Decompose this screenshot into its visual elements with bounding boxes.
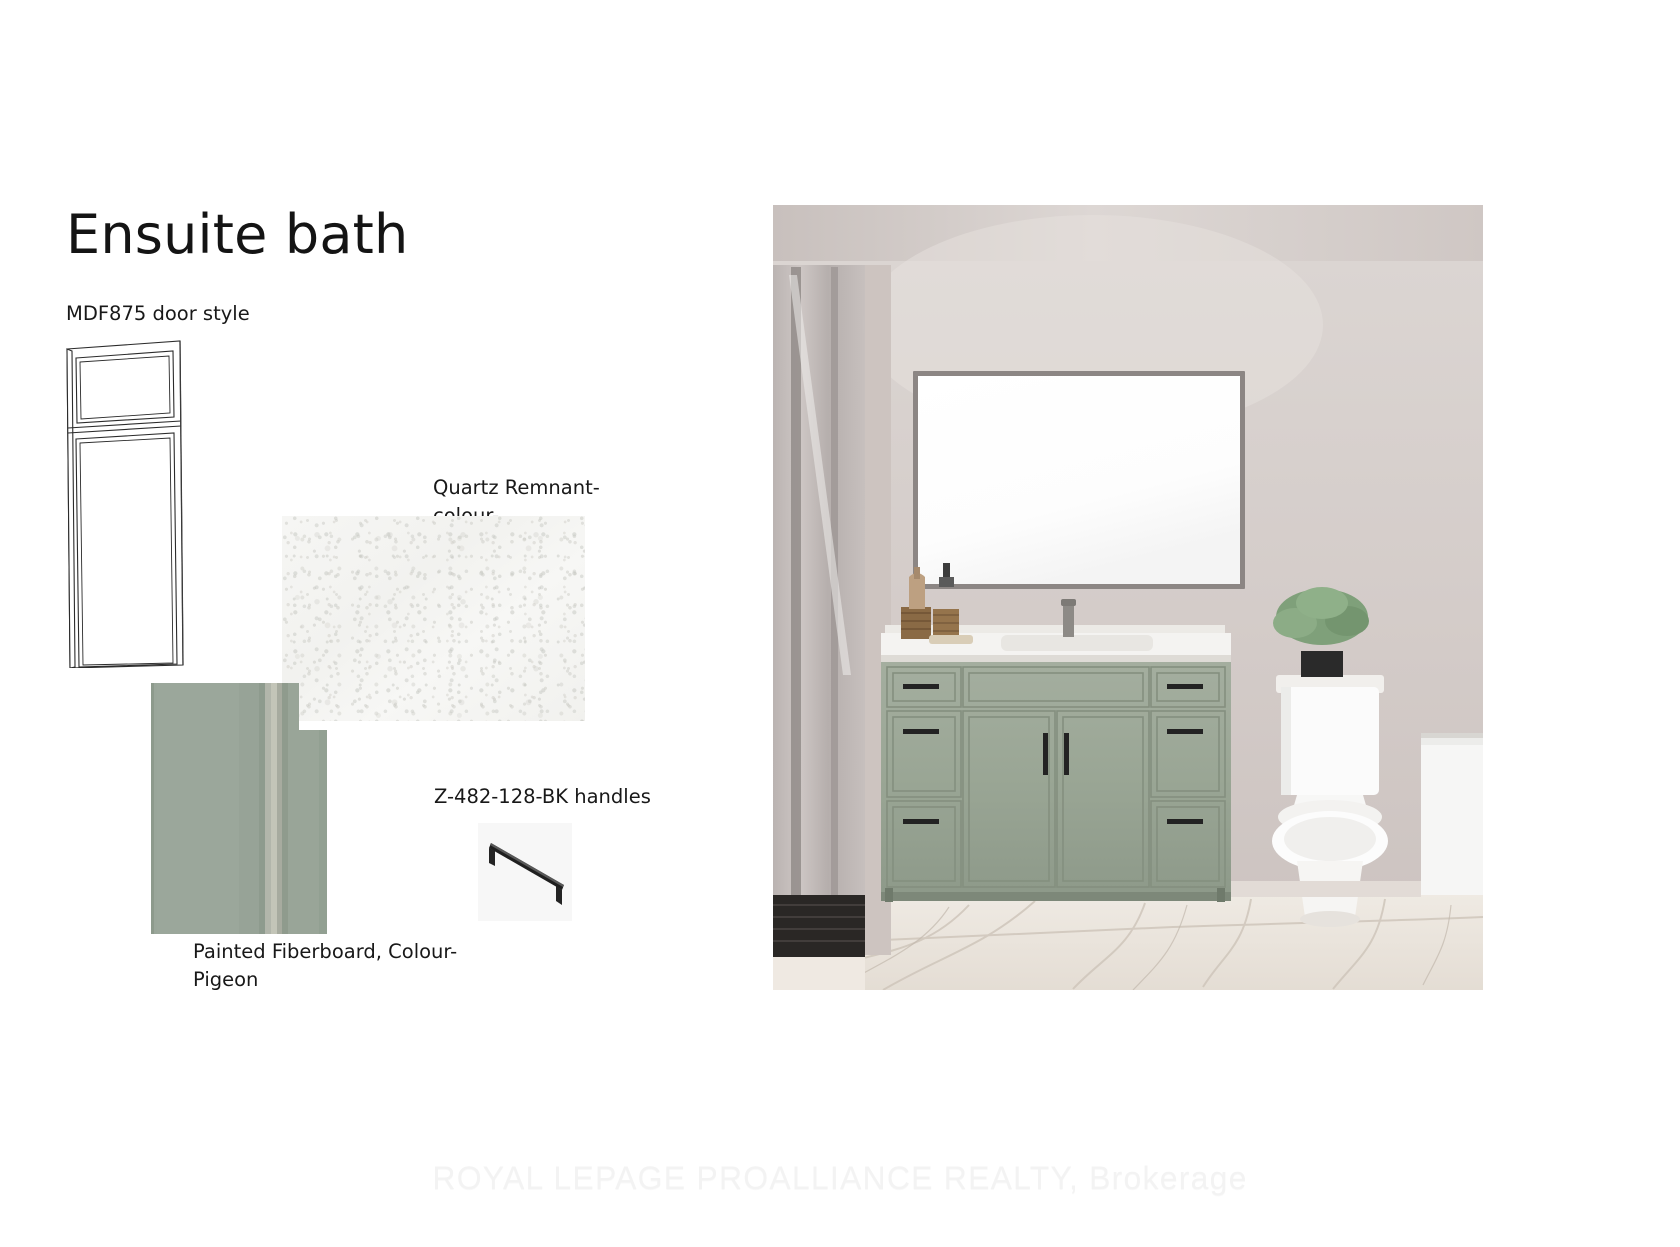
paint-swatch-panel-front [151,683,277,934]
paint-swatch-pigeon [151,683,327,934]
door-style-label: MDF875 door style [66,300,250,328]
presentation-slide: Ensuite bath MDF875 door style [0,0,1680,1247]
quartz-swatch [282,516,585,721]
door-style-drawing [62,338,207,668]
handles-label: Z-482-128-BK handles [434,783,651,811]
paint-label-line1: Painted Fiberboard, Colour- [193,940,457,963]
paint-label-line2: Pigeon [193,968,258,991]
paint-swatch-panel-edge [277,683,299,934]
watermark: ROYAL LEPAGE PROALLIANCE REALTY, Brokera… [0,1160,1680,1197]
paint-swatch-panel-back [299,730,327,934]
page-title: Ensuite bath [66,205,408,264]
quartz-label-line1: Quartz Remnant- [433,476,600,499]
bathroom-render-photo [773,205,1483,990]
handle-product-image [478,823,572,921]
paint-label: Painted Fiberboard, Colour- Pigeon [193,938,468,995]
